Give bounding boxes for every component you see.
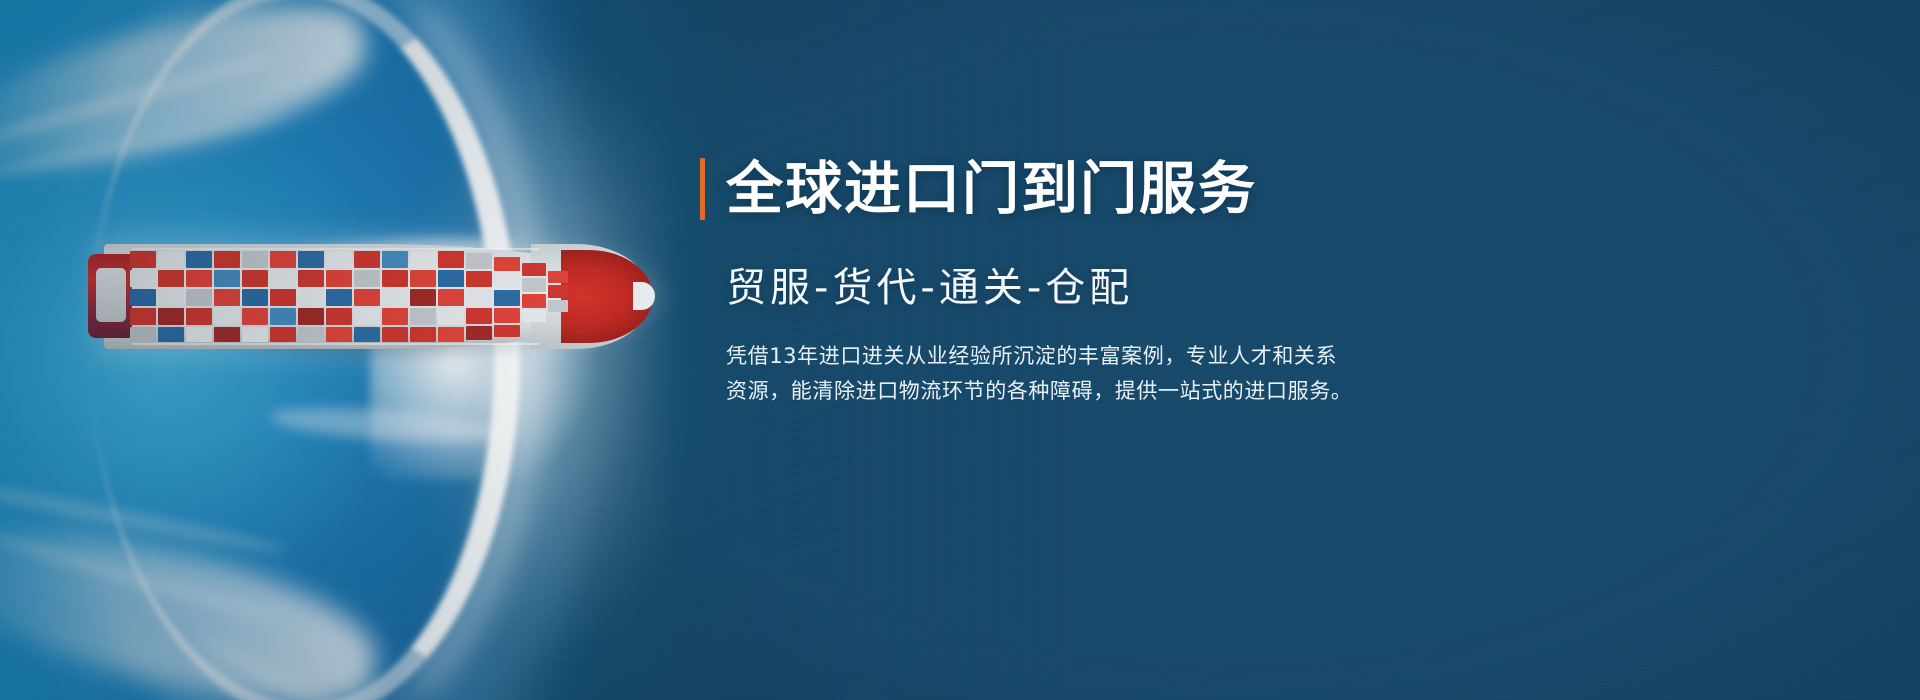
hero-description-line-1: 凭借13年进口进关从业经验所沉淀的丰富案例，专业人才和关系 [726,339,1426,374]
headline-row: 全球进口门到门服务 [700,158,1460,220]
hero-description: 凭借13年进口进关从业经验所沉淀的丰富案例，专业人才和关系 资源，能清除进口物流… [726,339,1426,410]
hero-description-line-2: 资源，能清除进口物流环节的各种障碍，提供一站式的进口服务。 [726,374,1426,409]
hero-content: 全球进口门到门服务 贸服-货代-通关-仓配 凭借13年进口进关从业经验所沉淀的丰… [700,158,1460,410]
page-title: 全球进口门到门服务 [726,160,1257,218]
hero-banner: 全球进口门到门服务 贸服-货代-通关-仓配 凭借13年进口进关从业经验所沉淀的丰… [0,0,1920,700]
orange-accent-bar [700,158,705,220]
hero-subtitle: 贸服-货代-通关-仓配 [726,255,1460,313]
